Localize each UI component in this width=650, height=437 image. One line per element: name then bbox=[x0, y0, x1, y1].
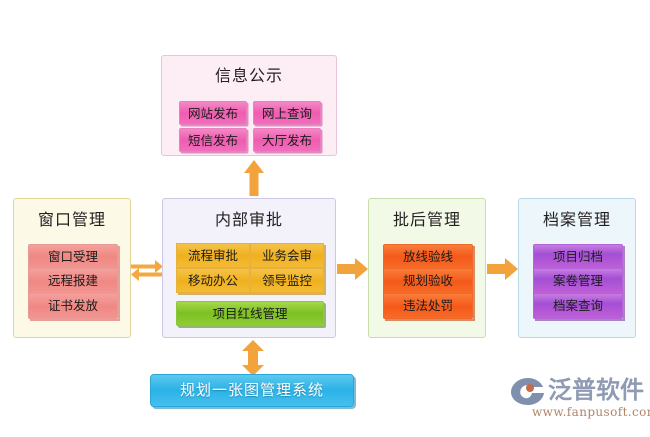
button-project-archiving[interactable]: 项目归档 bbox=[533, 244, 623, 269]
connector-approval-to-info-arrow-up-icon bbox=[243, 160, 265, 196]
watermark-url: www.fanpusoft.com bbox=[532, 405, 650, 419]
button-window-acceptance[interactable]: 窗口受理 bbox=[28, 244, 118, 269]
button-sms-publish[interactable]: 短信发布 bbox=[179, 128, 247, 152]
panel-post-approval-management-buttons: 放线验线 规划验收 违法处罚 bbox=[383, 244, 473, 319]
button-case-file-management[interactable]: 案卷管理 bbox=[533, 269, 623, 294]
system-bar-planning-one-map[interactable]: 规划一张图管理系统 bbox=[150, 374, 354, 407]
panel-internal-approval[interactable]: 内部审批 流程审批 业务会审 移动办公 领导监控 项目红线管理 bbox=[162, 198, 336, 338]
fanpu-logo-icon bbox=[510, 376, 546, 406]
panel-info-disclosure-title: 信息公示 bbox=[162, 68, 336, 84]
watermark-logo: 泛普软件 www.fanpusoft.com bbox=[508, 376, 644, 424]
panel-window-management-buttons: 窗口受理 远程报建 证书发放 bbox=[28, 244, 118, 319]
button-leader-monitoring[interactable]: 领导监控 bbox=[250, 268, 324, 293]
button-project-redline-management[interactable]: 项目红线管理 bbox=[176, 301, 324, 326]
connector-approval-to-post-arrow-right-icon bbox=[337, 258, 368, 280]
button-online-query[interactable]: 网上查询 bbox=[253, 101, 321, 125]
panel-archive-management-buttons: 项目归档 案卷管理 档案查询 bbox=[533, 244, 623, 319]
connector-window-approval-bidirectional-arrow-icon bbox=[131, 259, 163, 283]
button-website-publish[interactable]: 网站发布 bbox=[179, 101, 247, 125]
button-planning-acceptance[interactable]: 规划验收 bbox=[383, 269, 473, 294]
panel-archive-management[interactable]: 档案管理 项目归档 案卷管理 档案查询 bbox=[518, 198, 636, 338]
panel-window-management[interactable]: 窗口管理 窗口受理 远程报建 证书发放 bbox=[13, 198, 131, 338]
panel-post-approval-management-title: 批后管理 bbox=[369, 212, 485, 228]
button-hall-publish[interactable]: 大厅发布 bbox=[253, 128, 321, 152]
panel-internal-approval-title: 内部审批 bbox=[163, 212, 335, 228]
panel-internal-approval-buttons: 流程审批 业务会审 移动办公 领导监控 bbox=[176, 243, 324, 293]
connector-post-to-archive-arrow-right-icon bbox=[487, 258, 518, 280]
button-certificate-issuance[interactable]: 证书发放 bbox=[28, 294, 118, 319]
button-illegal-penalty[interactable]: 违法处罚 bbox=[383, 294, 473, 319]
button-line-setting-inspection[interactable]: 放线验线 bbox=[383, 244, 473, 269]
button-mobile-office[interactable]: 移动办公 bbox=[176, 268, 250, 293]
panel-post-approval-management[interactable]: 批后管理 放线验线 规划验收 违法处罚 bbox=[368, 198, 486, 338]
panel-info-disclosure[interactable]: 信息公示 网站发布 网上查询 短信发布 大厅发布 bbox=[161, 55, 337, 156]
button-archive-query[interactable]: 档案查询 bbox=[533, 294, 623, 319]
connector-approval-to-system-arrow-updown-icon bbox=[240, 340, 266, 376]
panel-archive-management-title: 档案管理 bbox=[519, 212, 635, 228]
button-process-approval[interactable]: 流程审批 bbox=[176, 243, 250, 268]
watermark-brand: 泛普软件 bbox=[548, 376, 644, 404]
panel-info-disclosure-buttons: 网站发布 网上查询 短信发布 大厅发布 bbox=[179, 101, 321, 152]
diagram-canvas: 信息公示 网站发布 网上查询 短信发布 大厅发布 窗口管理 窗口受理 远程报建 … bbox=[0, 0, 650, 437]
panel-window-management-title: 窗口管理 bbox=[14, 212, 130, 228]
button-remote-application[interactable]: 远程报建 bbox=[28, 269, 118, 294]
button-business-review[interactable]: 业务会审 bbox=[250, 243, 324, 268]
